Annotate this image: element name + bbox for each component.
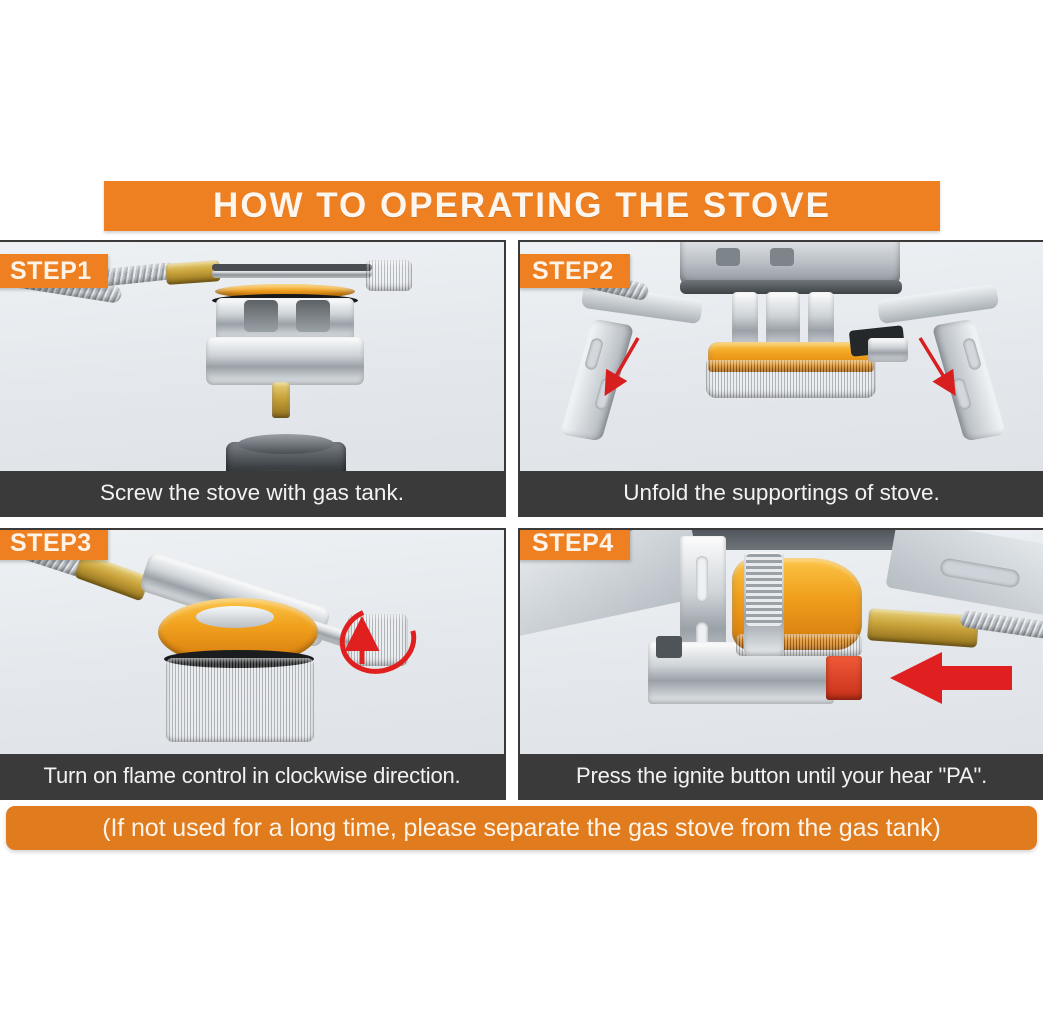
chrome-head-icon	[216, 298, 354, 340]
bracket-slot-icon	[696, 556, 708, 602]
stove-nut-icon	[206, 337, 364, 385]
step-3-caption: Turn on flame control in clockwise direc…	[0, 754, 504, 798]
rotation-ring-icon	[336, 601, 421, 679]
step-3-rotation-arrow	[0, 530, 504, 754]
title-banner: HOW TO OPERATING THE STOVE	[104, 181, 940, 231]
step-4-badge-label: STEP4	[532, 529, 614, 558]
step-1-caption: Screw the stove with gas tank.	[0, 471, 504, 515]
step-3-badge: STEP3	[0, 528, 108, 560]
step-4-arrow	[890, 652, 1020, 704]
unfold-arrow-right-icon	[920, 338, 952, 390]
unfold-arrow-left-icon	[608, 338, 638, 390]
step-4-caption: Press the ignite button until your hear …	[520, 754, 1043, 798]
step-panel-4: STEP4 Press the ignite button until your…	[518, 528, 1043, 800]
step-1-badge-label: STEP1	[10, 257, 92, 286]
head-slot-icon	[296, 300, 330, 332]
thread-texture-icon	[746, 554, 782, 626]
step-2-caption-text: Unfold the supportings of stove.	[623, 480, 939, 506]
step-2-badge: STEP2	[518, 254, 630, 288]
tank-valve-top-icon	[238, 434, 334, 454]
step-4-illustration	[520, 530, 1043, 754]
step-4-badge: STEP4	[518, 528, 630, 560]
step-panel-2: STEP2 Unfold the supportings of stove.	[518, 240, 1043, 517]
step-2-badge-label: STEP2	[532, 257, 614, 286]
bracket-tab-icon	[656, 636, 682, 658]
step-3-badge-label: STEP3	[10, 529, 92, 558]
step-2-caption: Unfold the supportings of stove.	[520, 471, 1043, 515]
step-3-caption-text: Turn on flame control in clockwise direc…	[44, 763, 461, 789]
infographic-sheet: HOW TO OPERATING THE STOVE	[0, 0, 1043, 1018]
step-1-badge: STEP1	[0, 254, 108, 288]
orange-valve-knob-icon	[366, 260, 412, 291]
head-slot-icon	[244, 300, 278, 332]
step-3-illustration	[0, 530, 504, 754]
step-1-caption-text: Screw the stove with gas tank.	[100, 480, 404, 506]
valve-arm-shadow	[212, 264, 372, 271]
step-panel-3: STEP3 Turn on flame control in clockwise…	[0, 528, 506, 800]
footer-note-banner: (If not used for a long time, please sep…	[6, 806, 1037, 850]
step-panel-1: STEP1 Screw the stove with gas tank.	[0, 240, 506, 517]
footer-note-text: (If not used for a long time, please sep…	[102, 814, 941, 843]
step-4-caption-text: Press the ignite button until your hear …	[576, 763, 987, 789]
steps-grid: STEP1 Screw the stove with gas tank.	[0, 240, 1043, 800]
brass-pin-icon	[272, 382, 290, 418]
ignite-button-icon[interactable]	[826, 656, 862, 700]
press-arrow-icon	[890, 652, 1012, 704]
title-bar: HOW TO OPERATING THE STOVE	[104, 181, 940, 231]
page-title: HOW TO OPERATING THE STOVE	[213, 186, 831, 226]
